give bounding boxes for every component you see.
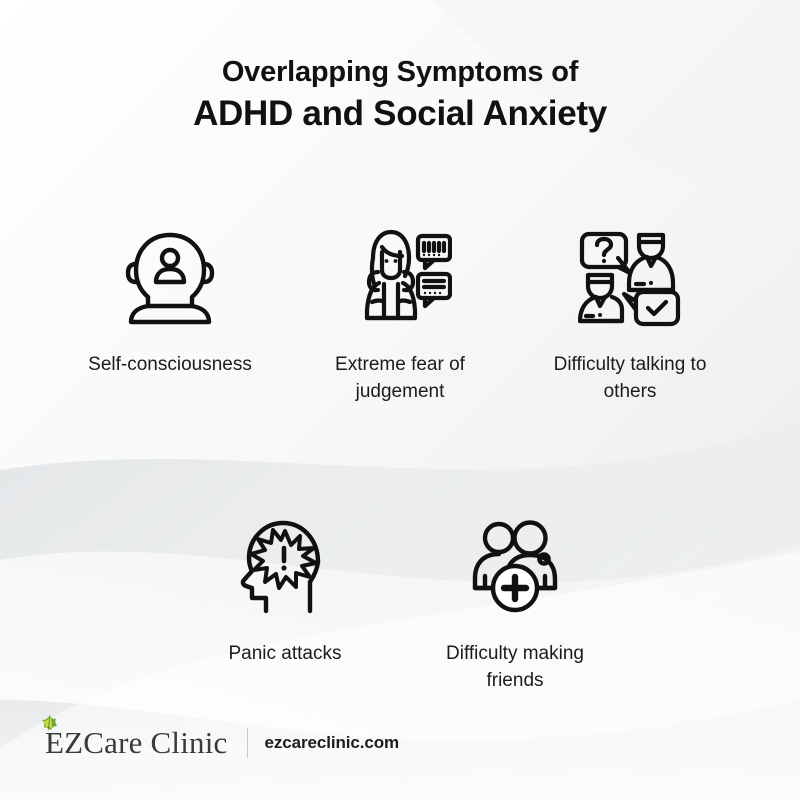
symptom-item-extreme-fear-of-judgement: Extreme fear of judgement bbox=[285, 222, 515, 406]
two-people-question-check-bubbles-icon bbox=[578, 222, 682, 334]
symptom-item-difficulty-making-friends: Difficulty making friends bbox=[400, 515, 630, 695]
page-title: Overlapping Symptoms of ADHD and Social … bbox=[0, 58, 800, 131]
symptom-label: Panic attacks bbox=[229, 641, 342, 668]
symptom-row-top: Self-consciousness bbox=[0, 222, 800, 406]
symptom-label: Extreme fear of judgement bbox=[310, 352, 490, 406]
site-url[interactable]: ezcareclinic.com bbox=[265, 733, 399, 753]
symptom-item-self-consciousness: Self-consciousness bbox=[55, 222, 285, 406]
symptom-label: Self-consciousness bbox=[88, 352, 252, 379]
head-with-person-inside-icon bbox=[122, 222, 218, 334]
brand-name: EZCare Clinic bbox=[38, 727, 228, 758]
title-line-1: Overlapping Symptoms of bbox=[0, 58, 800, 87]
green-leaf-icon bbox=[38, 713, 60, 735]
infographic-canvas: Overlapping Symptoms of ADHD and Social … bbox=[0, 0, 800, 800]
symptom-label: Difficulty making friends bbox=[425, 641, 605, 695]
worried-person-with-speech-bubbles-icon bbox=[348, 222, 452, 334]
symptom-item-difficulty-talking-to-others: Difficulty talking to others bbox=[515, 222, 745, 406]
footer: EZCare Clinic ezcareclinic.com bbox=[38, 727, 399, 758]
footer-divider bbox=[247, 728, 248, 758]
symptom-label: Difficulty talking to others bbox=[540, 352, 720, 406]
symptom-item-panic-attacks: Panic attacks bbox=[170, 515, 400, 695]
brand-logo[interactable]: EZCare Clinic bbox=[38, 727, 228, 758]
title-line-2: ADHD and Social Anxiety bbox=[0, 96, 800, 131]
symptom-row-bottom: Panic attacks Difficulty makin bbox=[0, 515, 800, 695]
two-people-with-plus-badge-icon bbox=[466, 515, 564, 619]
head-profile-with-starburst-exclamation-icon bbox=[238, 515, 332, 619]
